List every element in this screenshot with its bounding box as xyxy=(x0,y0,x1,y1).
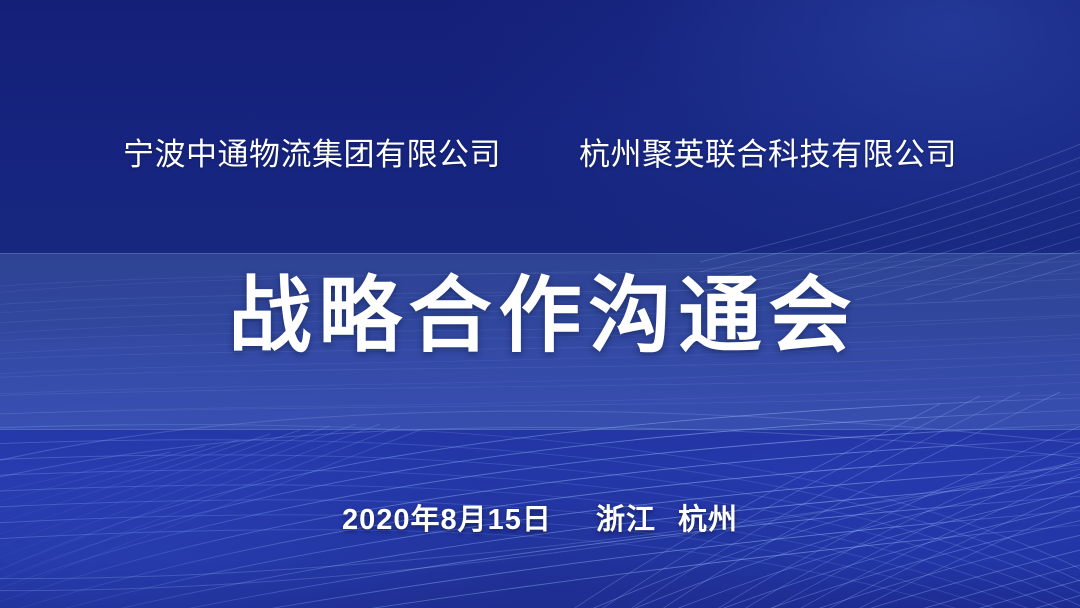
event-city: 杭州 xyxy=(678,496,738,538)
organization-right: 杭州聚英联合科技有限公司 xyxy=(579,139,957,172)
organization-left: 宁波中通物流集团有限公司 xyxy=(123,139,501,172)
event-province: 浙江 xyxy=(596,496,656,538)
event-date: 2020年8月15日 xyxy=(342,496,552,538)
slide-content: 宁波中通物流集团有限公司 杭州聚英联合科技有限公司 战略合作沟通会 2020年8… xyxy=(0,0,1080,608)
event-meta-line: 2020年8月15日 浙江 杭州 xyxy=(0,496,1080,538)
page-title: 战略合作沟通会 xyxy=(0,272,1080,360)
event-location: 浙江 杭州 xyxy=(596,496,738,538)
organization-line: 宁波中通物流集团有限公司 杭州聚英联合科技有限公司 xyxy=(0,139,1080,172)
title-slide: 宁波中通物流集团有限公司 杭州聚英联合科技有限公司 战略合作沟通会 2020年8… xyxy=(0,0,1080,608)
